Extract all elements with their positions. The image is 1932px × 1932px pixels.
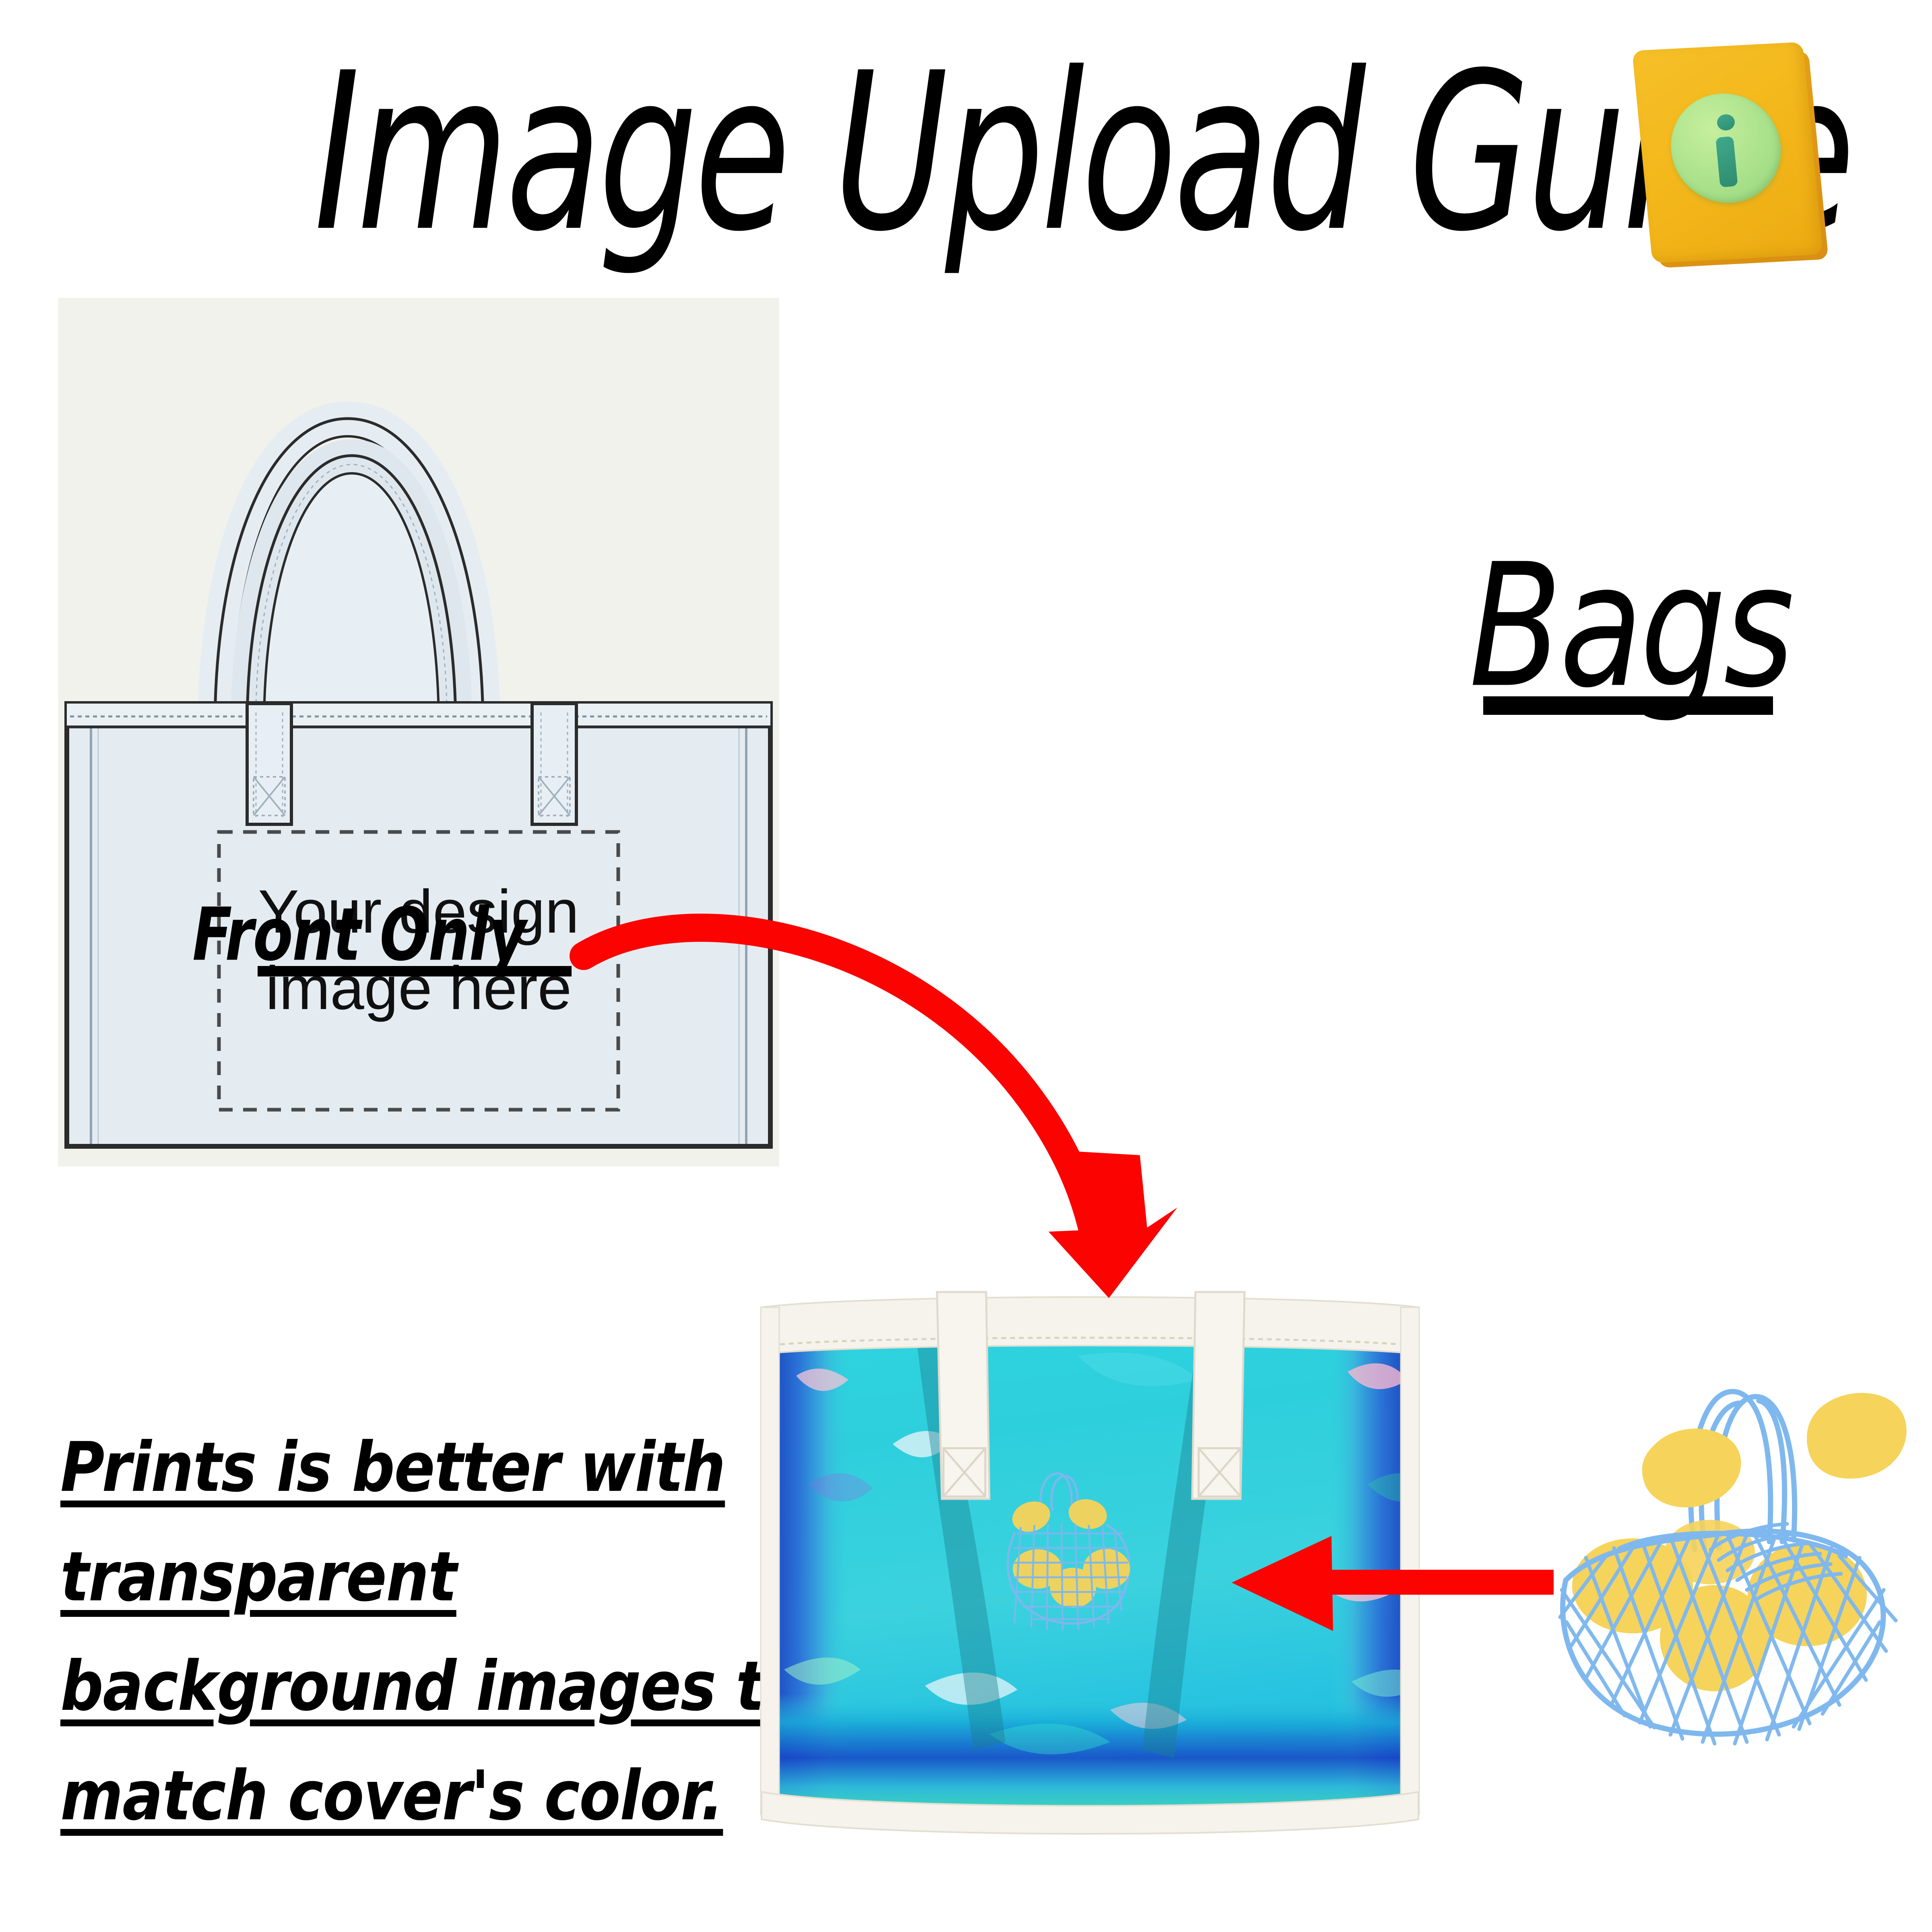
info-book-icon bbox=[1634, 40, 1884, 290]
instructions-block: Prints is better with transparent backgr… bbox=[60, 1413, 724, 1851]
instruction-line-3: background images to bbox=[60, 1632, 645, 1741]
tote-caption-front-only: Front Only bbox=[192, 892, 526, 977]
instruction-line-2: transparent bbox=[60, 1522, 645, 1632]
product-photo-transparent-tote bbox=[748, 1275, 1432, 1843]
instruction-line-1: Prints is better with bbox=[60, 1413, 645, 1522]
tote-bag-drawing bbox=[58, 298, 779, 1166]
product-photo-graphic bbox=[748, 1275, 1432, 1843]
category-label-underline bbox=[1483, 696, 1773, 715]
mesh-bag-graphic bbox=[1521, 1324, 1924, 1759]
tote-caption-underline bbox=[258, 966, 572, 976]
lemon-free-left bbox=[1642, 1428, 1741, 1507]
mesh-bag-lemons-artwork bbox=[1521, 1324, 1924, 1759]
category-label-bags: Bags bbox=[1469, 527, 1792, 725]
tote-mockup-panel: Your design image here bbox=[58, 298, 779, 1166]
page-title: Image Upload Guide bbox=[314, 12, 1524, 316]
lemon-free-right bbox=[1807, 1393, 1907, 1479]
poster-canvas: Image Upload Guide bbox=[0, 0, 1932, 1932]
instruction-line-4: match cover's color. bbox=[60, 1741, 645, 1851]
